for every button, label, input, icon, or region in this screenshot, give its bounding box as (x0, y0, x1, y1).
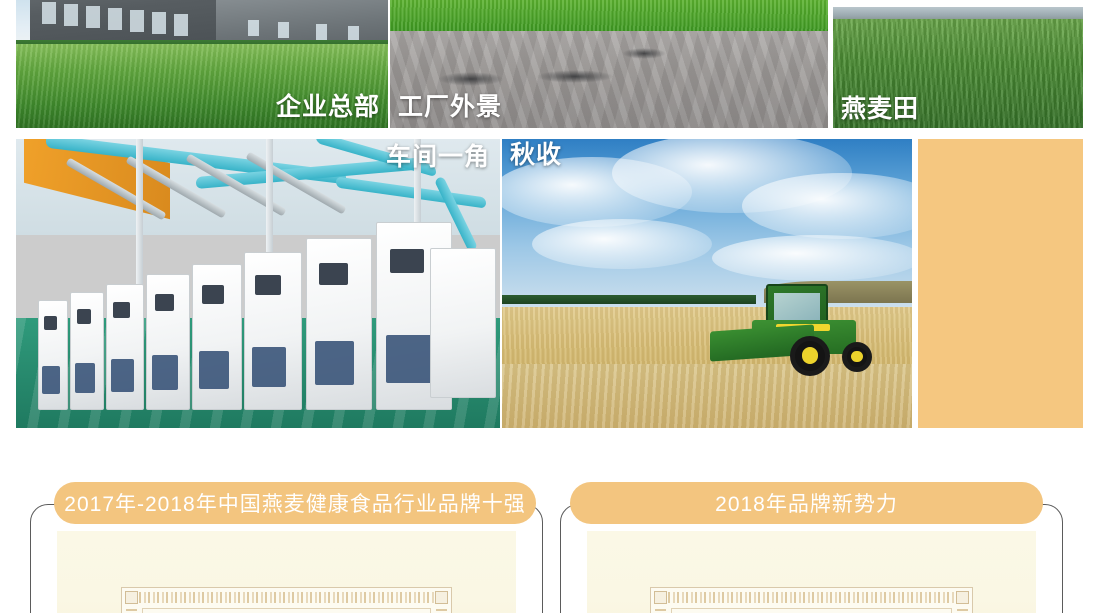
photo-caption-workshop: 车间一角 (386, 145, 490, 170)
harvester-wheel (842, 342, 872, 372)
control-cabinet (430, 248, 496, 398)
machine-panel (113, 302, 130, 318)
milling-machine (70, 292, 104, 410)
machine-hopper (386, 335, 432, 383)
photo-oat-field[interactable]: 燕麦田 (833, 7, 1083, 128)
yard-stain (536, 70, 614, 83)
machine-panel (202, 285, 224, 304)
building-window (174, 14, 188, 36)
ornament-corner (125, 591, 138, 604)
ornament-left (655, 606, 666, 613)
ornament-right (436, 606, 447, 613)
building-window (248, 20, 259, 36)
ornament-corner (956, 591, 969, 604)
certificate-inner-border (671, 608, 952, 613)
ornament-corner (435, 591, 448, 604)
milling-machine (146, 274, 190, 410)
milling-machine (244, 252, 302, 410)
building-window (86, 6, 100, 28)
machine-panel (255, 275, 281, 295)
award-badge-2018[interactable]: 2018年品牌新势力 (570, 482, 1043, 524)
cloud (532, 219, 712, 269)
photo-caption-headquarters: 企业总部 (276, 95, 380, 120)
cloud (712, 235, 912, 281)
yard-stain (438, 72, 504, 86)
harvester-combine (710, 284, 860, 374)
building-window (316, 24, 327, 40)
machine-panel (390, 249, 424, 273)
certificate-frame (121, 587, 452, 613)
ornament-right (957, 606, 968, 613)
building-window (108, 8, 122, 30)
machine-panel (155, 294, 174, 311)
machine-panel (319, 263, 348, 285)
cab-glass (774, 293, 820, 320)
building-window (278, 22, 289, 38)
photo-caption-factory-exterior: 工厂外景 (398, 95, 502, 120)
yard-stain (622, 48, 666, 59)
cut-stubble (502, 364, 912, 428)
photo-autumn-harvest[interactable]: 秋收 (502, 139, 912, 428)
photo-headquarters[interactable]: 企业总部 (16, 0, 388, 128)
machine-panel (44, 316, 57, 330)
building-window (64, 4, 78, 26)
certificate-inner-border (142, 608, 431, 613)
ornament-corner (654, 591, 667, 604)
building-window (130, 10, 144, 32)
milling-machine (306, 238, 372, 410)
machine-hopper (199, 351, 229, 388)
machine-hopper (315, 341, 355, 385)
machine-hopper (42, 366, 59, 394)
orange-placeholder-panel[interactable] (918, 139, 1083, 428)
certificate-frame (650, 587, 973, 613)
harvester-wheel (790, 336, 830, 376)
milling-machine (38, 300, 68, 410)
award-badge-2017-2018[interactable]: 2017年-2018年中国燕麦健康食品行业品牌十强 (54, 482, 536, 524)
machine-hopper (111, 359, 133, 391)
building-window (42, 2, 56, 24)
milling-machine (192, 264, 242, 410)
ornament-left (126, 606, 137, 613)
milling-machine (106, 284, 144, 410)
machine-hopper (152, 355, 178, 390)
gallery-page: 企业总部 工厂外景 燕麦田 (0, 0, 1100, 613)
machine-hopper (252, 347, 287, 388)
machine-hopper (75, 363, 95, 393)
certificate-paper (57, 531, 516, 613)
building-window (152, 12, 166, 34)
photo-caption-autumn-harvest: 秋收 (510, 143, 562, 168)
photo-caption-oat-field: 燕麦田 (841, 97, 919, 122)
certificate-paper (587, 531, 1036, 613)
photo-factory-exterior[interactable]: 工厂外景 (390, 0, 828, 128)
lawn-strip (390, 0, 828, 32)
photo-workshop[interactable]: 车间一角 (16, 139, 500, 428)
machine-panel (77, 309, 92, 324)
ornament-top (655, 592, 968, 603)
ornament-top (126, 592, 447, 603)
